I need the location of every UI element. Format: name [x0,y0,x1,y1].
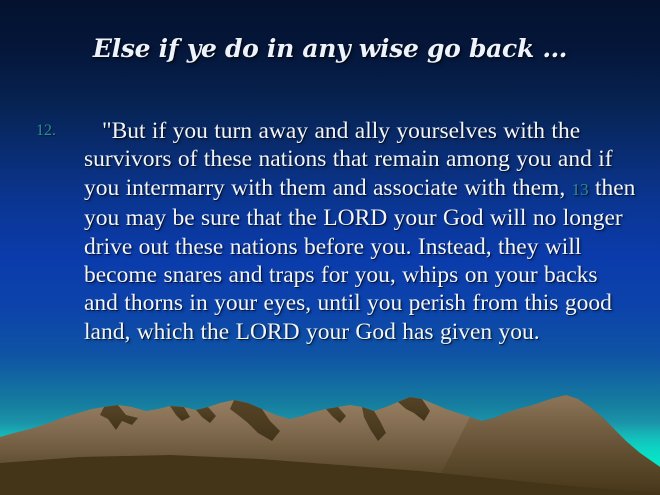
presentation-slide: Else if ye do in any wise go back … 12. … [0,0,660,495]
verse-row: 12. "But if you turn away and ally yours… [36,117,636,346]
mountain-range-illustration [0,385,660,495]
verse-number-label: 12. [36,117,84,145]
slide-body: 12. "But if you turn away and ally yours… [36,117,636,346]
verse-text-part-one: "But if you turn away and ally yourselve… [84,118,613,201]
verse-body-text: "But if you turn away and ally yourselve… [84,117,636,346]
inline-verse-number: 13 [572,180,589,199]
slide-title: Else if ye do in any wise go back … [0,34,660,63]
